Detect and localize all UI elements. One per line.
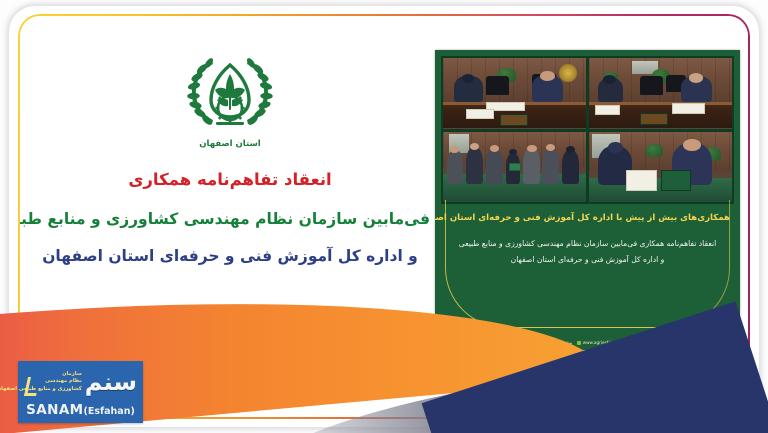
photo-exchange (589, 132, 732, 203)
sanam-logo-english: SANAM(Esfahan) (18, 399, 143, 418)
sanam-logo-english-sub: (Esfahan) (84, 406, 135, 417)
sanam-logo-line-3: کشاورزی و منابع طبیعی اصفهان (0, 386, 82, 394)
sanam-logo-english-main: SANAM (26, 402, 83, 418)
news-card: همکاری‌های بیش از پیش با اداره کل آموزش … (435, 50, 740, 350)
sanam-logo-wordmark-fa: سنم (85, 370, 137, 394)
card-body-line-1: انعقاد تفاهم‌نامه همکاری فی‌مابین سازمان… (451, 236, 724, 252)
sanam-logo-line-1: سازمان (0, 371, 82, 379)
photo-collage (441, 56, 734, 204)
headline-line-title: انعقاد تفاهم‌نامه همکاری (30, 171, 430, 190)
headline-line-party-two: و اداره کل آموزش فنی و حرفه‌ای استان اصف… (30, 248, 430, 266)
sanam-logo-top-row: سنم سازمان نظام مهندسی کشاورزی و منابع ط… (22, 365, 139, 399)
photo-signing-left (589, 58, 732, 129)
card-body: انعقاد تفاهم‌نامه همکاری فی‌مابین سازمان… (451, 236, 724, 267)
headline-block: انعقاد تفاهم‌نامه همکاری فی‌مابین سازمان… (30, 171, 430, 266)
sanam-logo-line-2: نظام مهندسی (0, 378, 82, 386)
headline-line-party-one: فی‌مابین سازمان نظام مهندسی کشاورزی و من… (30, 211, 430, 229)
poster-canvas: استان اصفهان انعقاد تفاهم‌نامه همکاری فی… (0, 0, 768, 433)
agricultural-engineering-emblem-icon (182, 46, 278, 138)
card-body-line-2: و اداره کل آموزش فنی و حرفه‌ای استان اصف… (451, 252, 724, 268)
sanam-logo-subtitle-lines: سازمان نظام مهندسی کشاورزی و منابع طبیعی… (0, 371, 82, 394)
photo-group (443, 132, 586, 203)
emblem-caption: استان اصفهان (30, 139, 430, 149)
sanam-logo-badge[interactable]: سنم سازمان نظام مهندسی کشاورزی و منابع ط… (18, 361, 143, 423)
organization-emblem: استان اصفهان (30, 46, 430, 149)
photo-signing-right (443, 58, 586, 129)
left-content-column: استان اصفهان انعقاد تفاهم‌نامه همکاری فی… (30, 36, 430, 326)
globe-icon (577, 341, 581, 345)
card-heading: همکاری‌های بیش از پیش با اداره کل آموزش … (445, 212, 730, 224)
